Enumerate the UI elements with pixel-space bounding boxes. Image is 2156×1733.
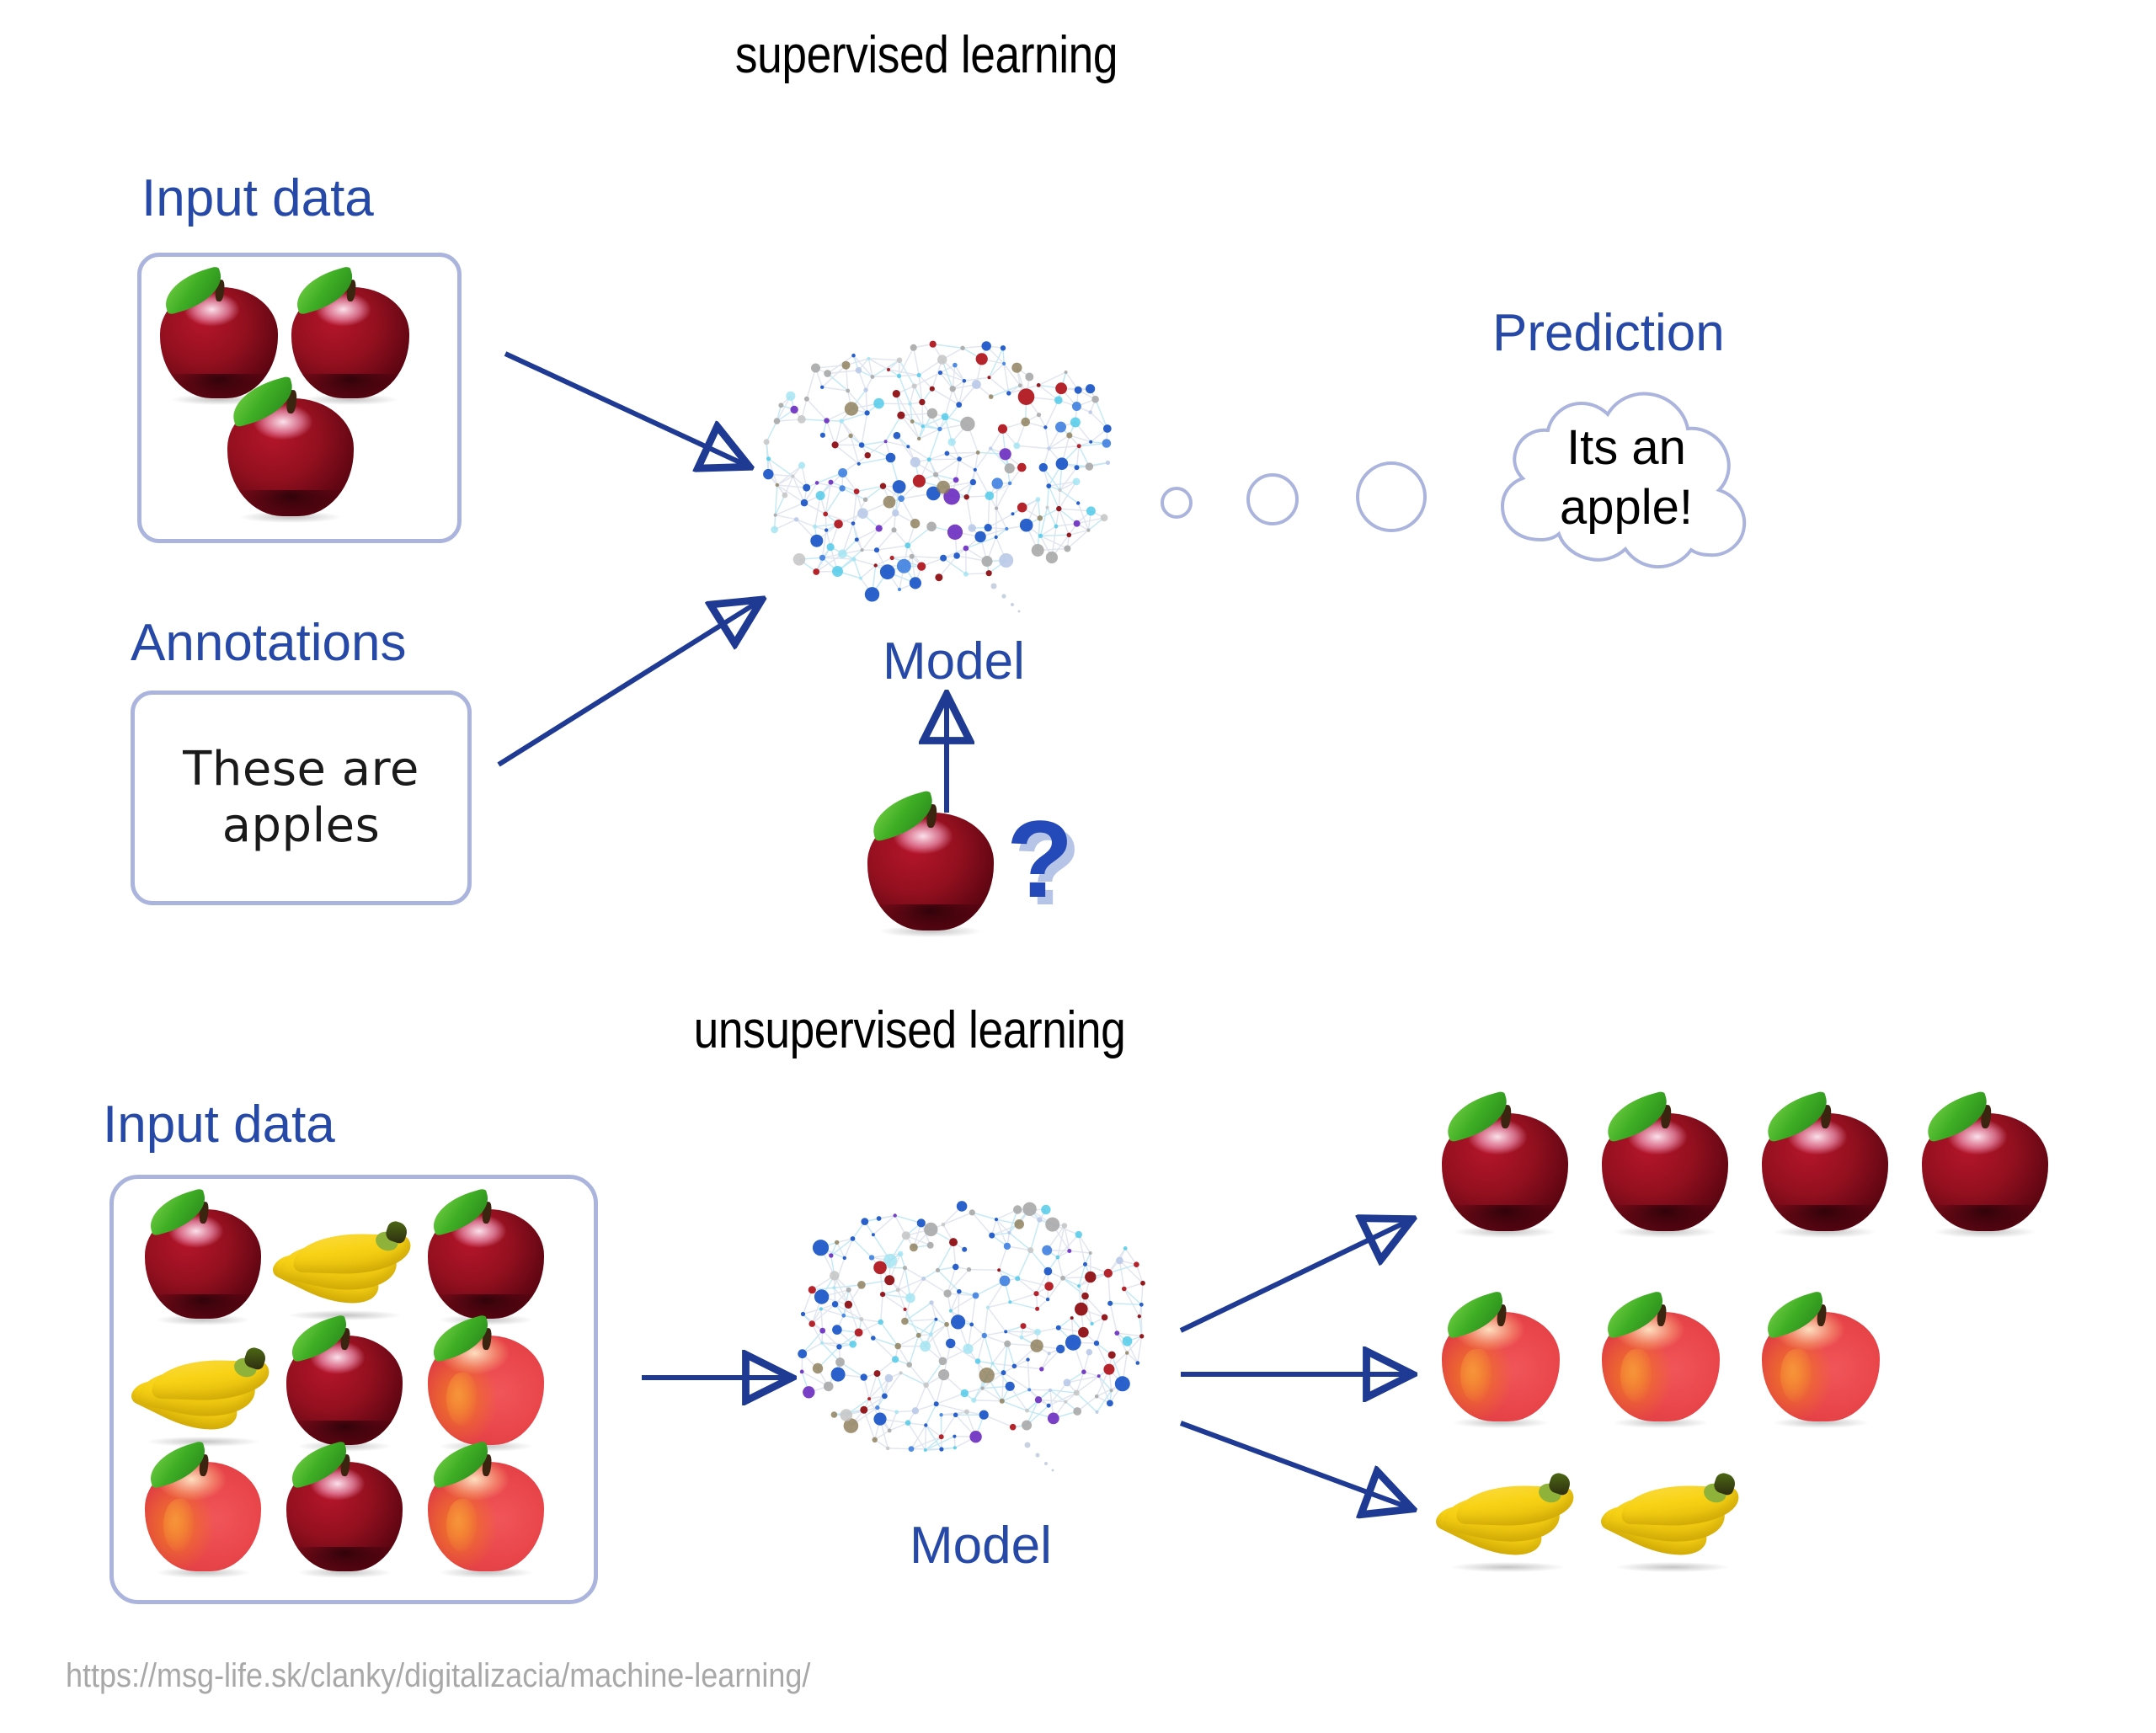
prediction-thought-cloud: Its an apple!	[1487, 383, 1765, 573]
banana-icon	[1602, 1465, 1743, 1566]
prediction-line-1: Its an	[1566, 419, 1686, 478]
bananas-cluster	[0, 0, 2156, 1733]
prediction-line-2: apple!	[1560, 478, 1693, 538]
prediction-text: Its an apple!	[1487, 383, 1765, 573]
diagram-canvas: supervised learning Input data Annotatio…	[0, 0, 2156, 1733]
source-url-text: https://msg-life.sk/clanky/digitalizacia…	[66, 1657, 810, 1695]
banana-icon	[1437, 1465, 1578, 1566]
